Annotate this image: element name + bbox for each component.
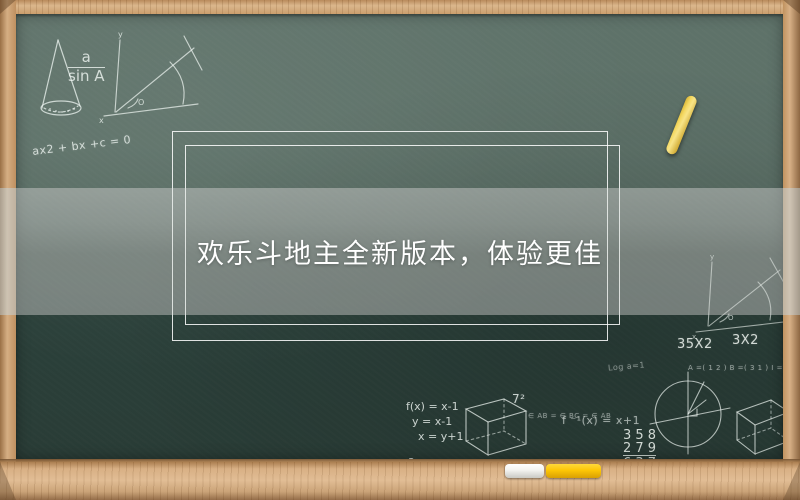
fraction-numerator: a xyxy=(68,50,105,66)
addition-problem: 3 5 8 2 7 9 6 3 7 xyxy=(623,429,656,459)
log-note: Log a=1 xyxy=(608,360,646,372)
cone-diagram xyxy=(30,36,100,126)
function-line-1: f(x) = x-1 xyxy=(406,400,463,415)
addition-sum: 6 3 7 xyxy=(623,455,656,459)
cube-diagram-center xyxy=(456,389,534,459)
headline-band: 欢乐斗地主全新版本，体验更佳 xyxy=(0,188,800,315)
exponent-note-7: 7² xyxy=(512,392,525,406)
ledge-shadow-line xyxy=(0,459,800,462)
multiply-note-35x2: 35X2 xyxy=(677,337,713,352)
svg-text:O: O xyxy=(728,314,734,322)
white-chalk-stick xyxy=(505,464,544,478)
frame-bottom-ledge xyxy=(0,462,800,500)
chalkboard-banner: a sin A y x O ax2 + bx +c = 0 xyxy=(0,0,800,500)
fraction-denominator: sin A xyxy=(68,69,105,85)
fraction-a-over-sinA-topleft: a sin A xyxy=(68,50,105,85)
frame-top-rail xyxy=(0,0,800,14)
fraction-numerator: a xyxy=(398,455,425,459)
yellow-chalk-stick xyxy=(546,464,601,478)
function-line-3: x = y+1 xyxy=(406,430,463,445)
svg-text:x: x xyxy=(692,333,696,341)
svg-text:y: y xyxy=(118,30,123,39)
function-notes: f(x) = x-1 y = x-1 x = y+1 xyxy=(406,400,463,445)
svg-text:O: O xyxy=(138,98,144,107)
matrix-note: A =( 1 2 ) B =( 3 1 ) I =( 1 0 ) xyxy=(688,364,783,372)
multiply-note-3x2: 3X2 xyxy=(732,333,759,348)
inverse-function-note: f ⁻¹(x) = x+1 xyxy=(562,414,640,427)
addition-line-2: 2 7 9 xyxy=(623,442,656,455)
circle-diagram xyxy=(644,366,736,458)
fraction-bar xyxy=(68,67,105,68)
fraction-a-over-sinA-bottommid: a sin A xyxy=(472,457,499,459)
fraction-a-over-sinA-bottomleft: a sin A xyxy=(398,455,425,459)
angle-axis-diagram-topleft: y x O xyxy=(98,28,208,128)
fraction-numerator: a xyxy=(472,457,499,459)
function-line-2: y = x-1 xyxy=(406,415,463,430)
svg-text:x: x xyxy=(99,116,104,125)
quadratic-equation-note: ax2 + bx +c = 0 xyxy=(32,133,132,158)
cube-diagram-right xyxy=(721,392,783,459)
set-relation-note: ∈ AB = ∈ BC = ∈ AB xyxy=(528,412,611,420)
page-title: 欢乐斗地主全新版本，体验更佳 xyxy=(197,232,603,271)
